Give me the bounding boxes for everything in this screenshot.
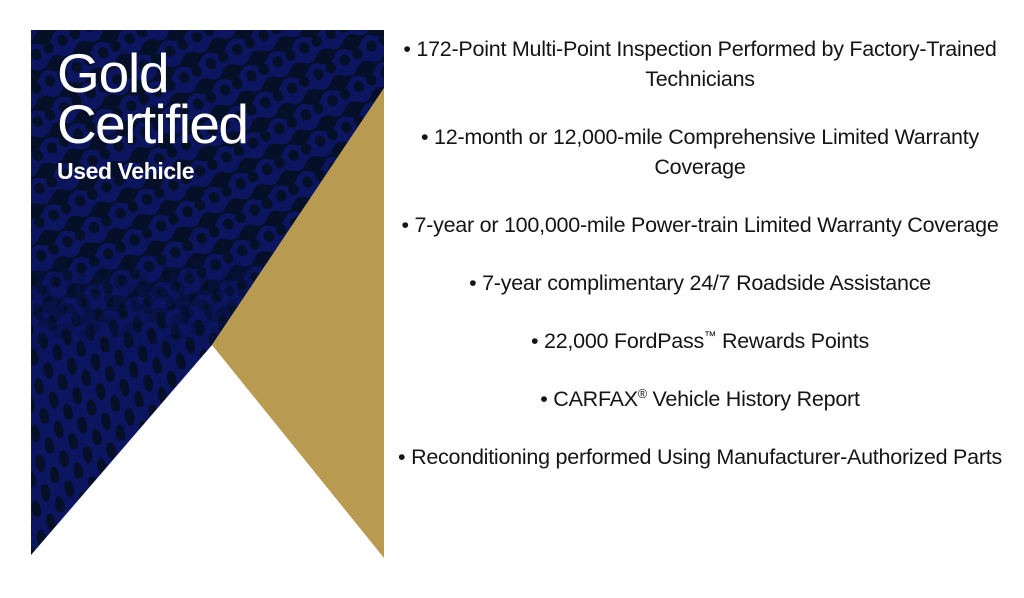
benefit-item: • 172-Point Multi-Point Inspection Perfo… — [398, 34, 1002, 94]
benefit-text: 22,000 FordPass™ Rewards Points — [544, 329, 869, 353]
benefit-item: • 7-year complimentary 24/7 Roadside Ass… — [398, 268, 1002, 298]
benefit-bullet: • — [540, 387, 547, 411]
benefit-item: • Reconditioning performed Using Manufac… — [398, 442, 1002, 472]
benefit-bullet: • — [403, 37, 410, 61]
benefit-bullet: • — [398, 445, 405, 469]
benefit-item: • 22,000 FordPass™ Rewards Points — [398, 326, 1002, 356]
benefit-bullet: • — [401, 213, 408, 237]
benefit-text: 172-Point Multi-Point Inspection Perform… — [416, 37, 996, 91]
benefit-item: • 12-month or 12,000-mile Comprehensive … — [398, 122, 1002, 182]
benefit-text: Reconditioning performed Using Manufactu… — [411, 445, 1002, 469]
benefit-text: 7-year or 100,000-mile Power-train Limit… — [414, 213, 998, 237]
certified-vehicle-graphic: Gold Certified Used Vehicle • 172-Point … — [0, 0, 1024, 598]
benefit-bullet: • — [469, 271, 476, 295]
benefit-item: • 7-year or 100,000-mile Power-train Lim… — [398, 210, 1002, 240]
benefit-text: CARFAX® Vehicle History Report — [553, 387, 859, 411]
gold-certified-badge: Gold Certified Used Vehicle — [31, 30, 384, 558]
benefit-text: 7-year complimentary 24/7 Roadside Assis… — [482, 271, 931, 295]
benefit-item: • CARFAX® Vehicle History Report — [398, 384, 1002, 414]
badge-shape — [31, 30, 384, 558]
benefit-bullet: • — [421, 125, 428, 149]
benefit-bullet: • — [531, 329, 538, 353]
benefit-text: 12-month or 12,000-mile Comprehensive Li… — [434, 125, 979, 179]
benefits-list: • 172-Point Multi-Point Inspection Perfo… — [398, 34, 1002, 564]
